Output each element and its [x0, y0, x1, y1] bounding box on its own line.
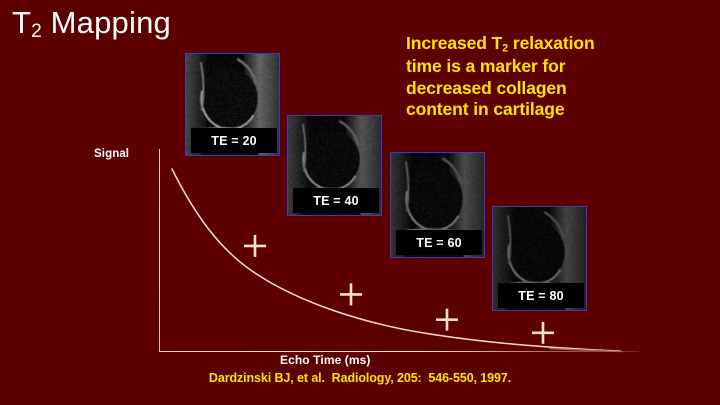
mri-thumbnail: TE = 40: [287, 115, 382, 216]
page-title-suffix: Mapping: [42, 5, 171, 40]
page-title: T2 Mapping: [12, 6, 171, 42]
page-title-prefix: T: [12, 5, 31, 40]
data-point-marker: [340, 283, 362, 305]
mri-thumbnail: TE = 20: [185, 53, 280, 156]
data-point-marker: [532, 322, 554, 344]
data-point-marker: [436, 309, 458, 331]
mri-te-label: TE = 80: [498, 283, 584, 308]
y-axis-label: Signal: [94, 148, 129, 160]
mri-te-label: TE = 60: [396, 230, 482, 255]
citation-text: Dardzinski BJ, et al. Radiology, 205: 54…: [0, 371, 720, 385]
slide-canvas: T2 Mapping Increased T2 relaxation time …: [0, 0, 720, 405]
page-title-subscript: 2: [31, 21, 42, 42]
mri-te-label: TE = 40: [293, 188, 379, 213]
data-point-marker: [244, 235, 266, 257]
mri-thumbnail: TE = 60: [390, 152, 485, 258]
mri-thumbnail: TE = 80: [492, 206, 587, 311]
mri-te-label: TE = 20: [191, 128, 277, 153]
callout-text: Increased T2 relaxation time is a marker…: [406, 33, 621, 121]
callout-line1-prefix: Increased T: [406, 33, 502, 53]
